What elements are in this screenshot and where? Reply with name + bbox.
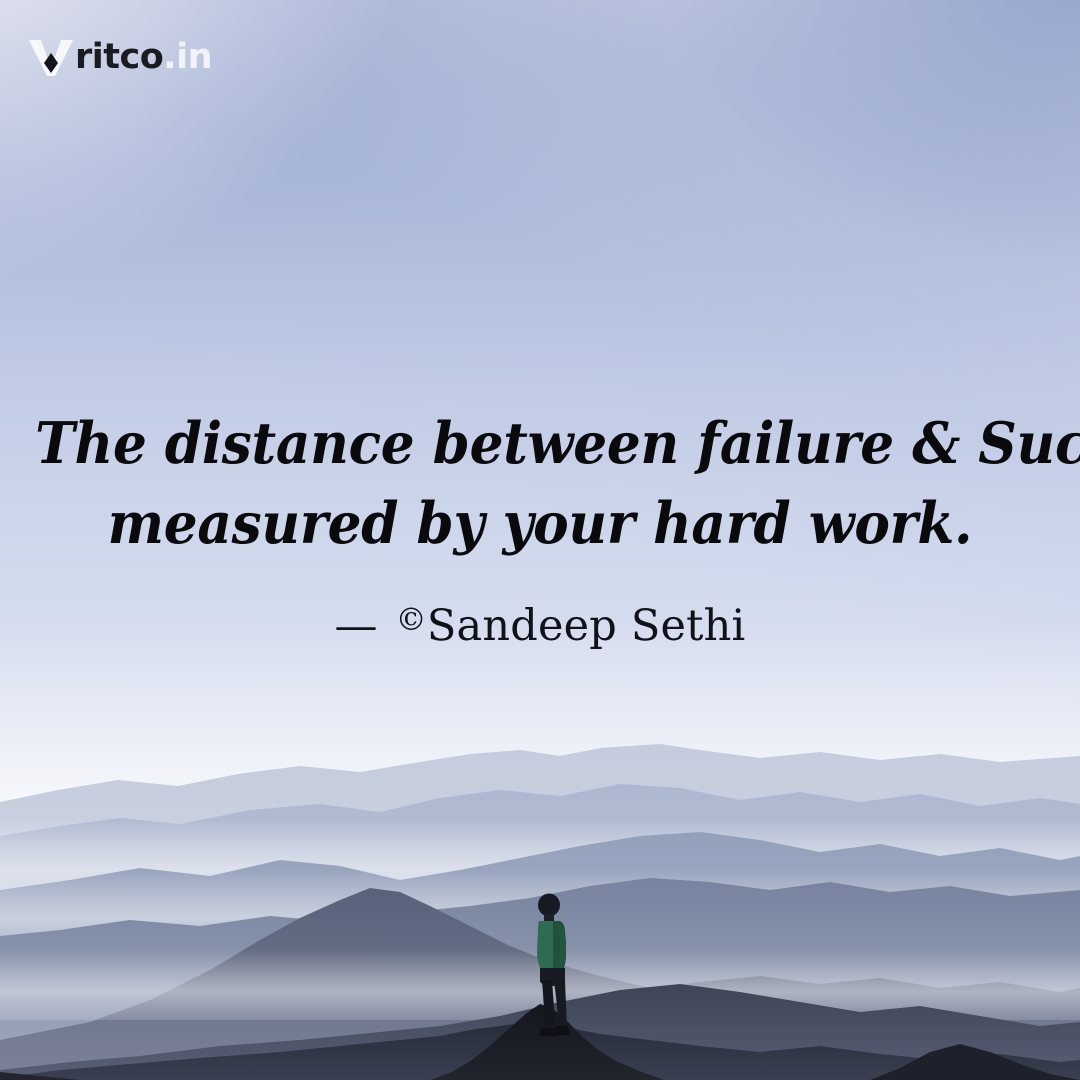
quote-line-2: measured by your hard work. — [35, 484, 1045, 564]
standing-person-silhouette — [519, 892, 585, 1037]
writco-w-logo-icon — [28, 37, 74, 77]
quote-text: The distance between failure & Success i… — [0, 404, 1080, 564]
logo-name-dark: ritco — [75, 37, 163, 77]
writco-logo[interactable]: ritco.in — [28, 34, 212, 80]
attribution-author: Sandeep Sethi — [427, 601, 746, 651]
logo-name-light: .in — [163, 37, 212, 77]
quote-line-1: The distance between failure & Success i… — [35, 404, 1045, 484]
attribution-dash: — — [334, 601, 377, 651]
copyright-icon: © — [396, 602, 427, 638]
quote-attribution: —©Sandeep Sethi — [0, 592, 1080, 654]
quote-card: ritco.in The distance between failure & … — [0, 0, 1080, 1080]
